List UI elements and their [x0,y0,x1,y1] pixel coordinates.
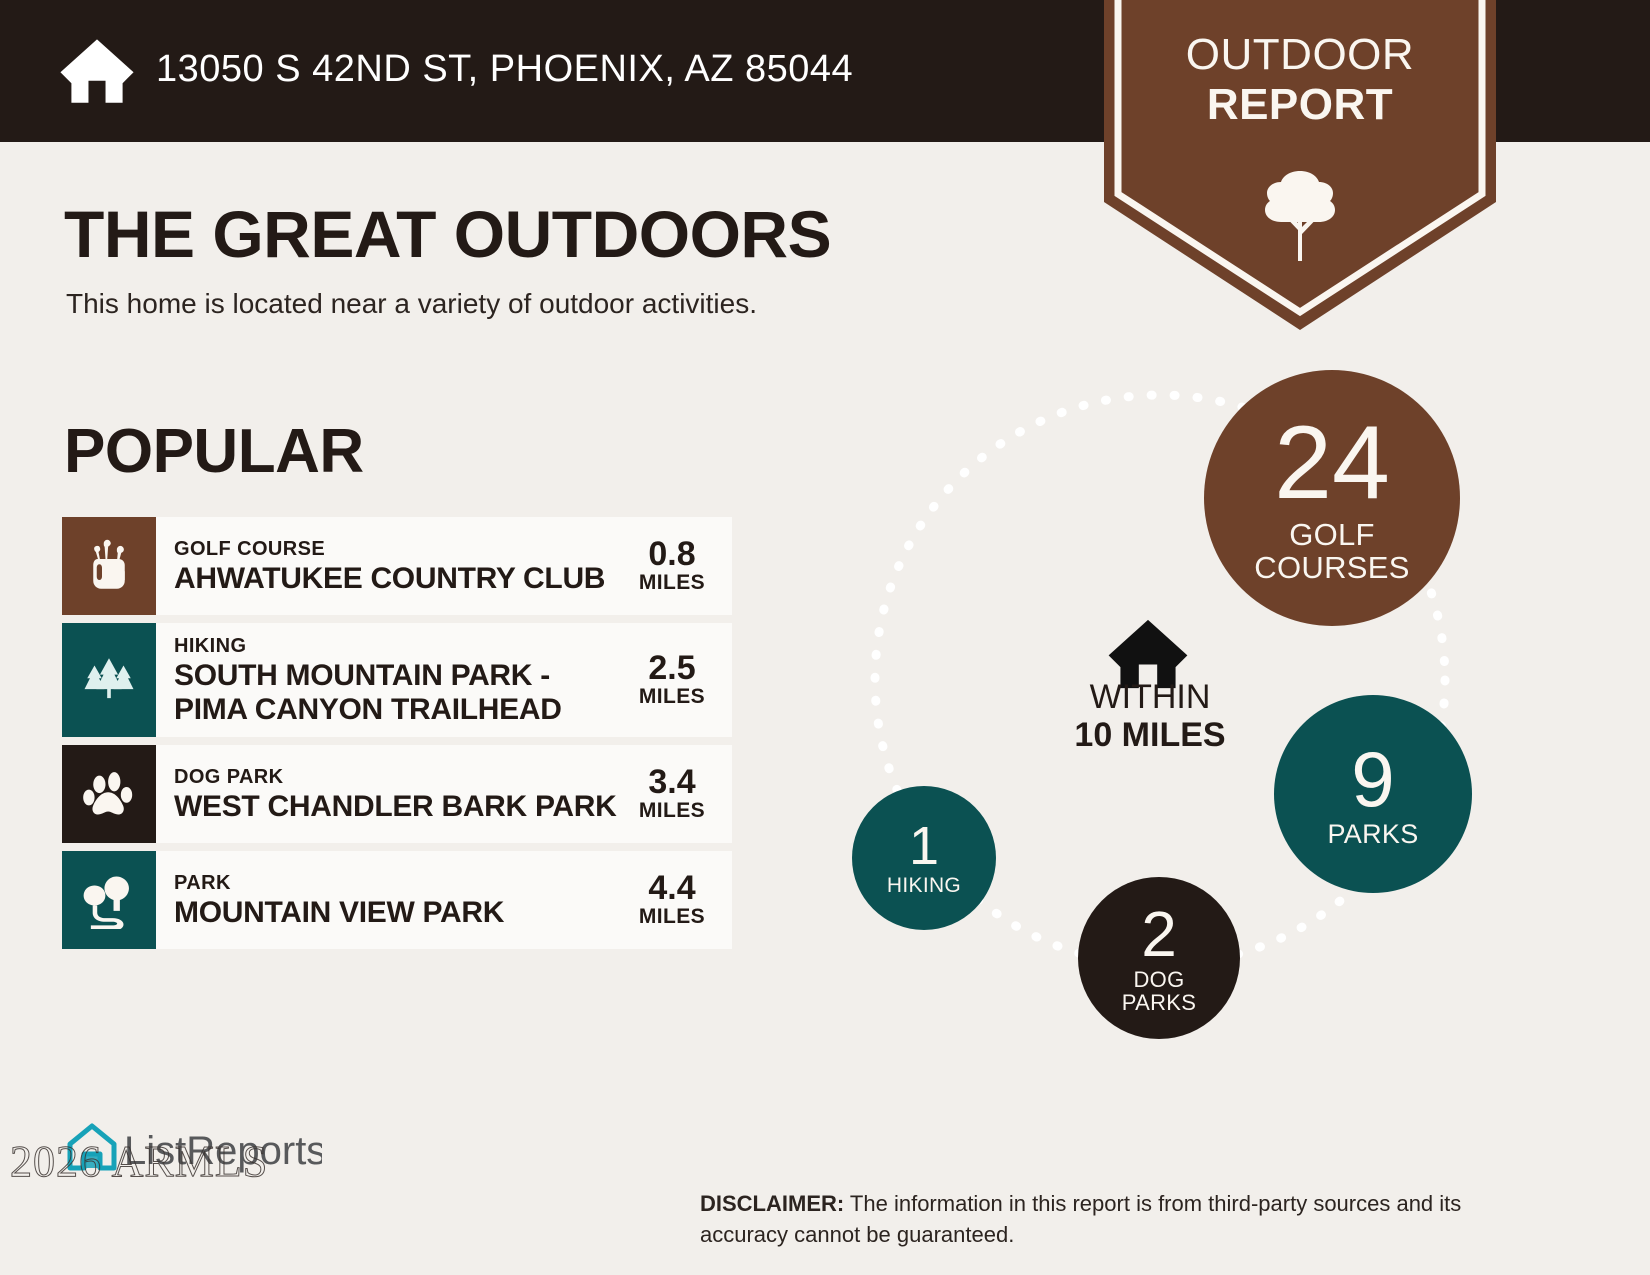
distance-unit: MILES [626,685,718,709]
list-item-distance: 2.5 MILES [618,651,718,709]
stat-value: 1 [909,819,939,873]
popular-heading: POPULAR [64,416,364,487]
list-item-category: DOG PARK [174,764,617,790]
paw-print-icon [81,766,137,822]
stat-label-line1: DOG [1122,968,1196,991]
popular-list: GOLF COURSE AHWATUKEE COUNTRY CLUB 0.8 M… [62,517,732,957]
list-item-category: PARK [174,870,504,896]
outdoor-report-badge: OUTDOOR REPORT [1104,0,1496,330]
stat-label-line1: GOLF [1254,519,1409,552]
list-item-icon-tile [62,623,156,737]
property-address: 13050 S 42ND ST, PHOENIX, AZ 85044 [156,48,853,91]
distance-unit: MILES [626,905,718,929]
distance-value: 4.4 [626,871,718,905]
stat-bubble-golf-courses[interactable]: 24 GOLF COURSES [1204,370,1460,626]
list-item-body: GOLF COURSE AHWATUKEE COUNTRY CLUB 0.8 M… [156,517,732,615]
stat-label: GOLF COURSES [1254,519,1409,584]
disclaimer: DISCLAIMER: The information in this repo… [700,1188,1530,1250]
badge-title-line1: OUTDOOR [1104,30,1496,80]
badge-title: OUTDOOR REPORT [1104,30,1496,130]
list-item-icon-tile [62,745,156,843]
stat-value: 2 [1141,902,1177,966]
list-item-distance: 0.8 MILES [618,537,718,595]
list-item-distance: 3.4 MILES [618,765,718,823]
stat-label-line2: COURSES [1254,552,1409,585]
within-10-miles-label: WITHIN 10 MILES [1020,678,1280,754]
within-label-line1: WITHIN [1020,678,1280,716]
page-title: THE GREAT OUTDOORS [64,196,831,272]
distance-value: 3.4 [626,765,718,799]
distance-value: 2.5 [626,651,718,685]
list-item-icon-tile [62,517,156,615]
list-item-body: DOG PARK WEST CHANDLER BARK PARK 3.4 MIL… [156,745,732,843]
armls-watermark: 2026 ARMLS [10,1136,268,1187]
list-item-icon-tile [62,851,156,949]
list-item[interactable]: DOG PARK WEST CHANDLER BARK PARK 3.4 MIL… [62,745,732,843]
list-item-body: PARK MOUNTAIN VIEW PARK 4.4 MILES [156,851,732,949]
stat-bubble-hiking[interactable]: 1 HIKING [852,786,996,930]
list-item-name: SOUTH MOUNTAIN PARK - PIMA CANYON TRAILH… [174,659,618,727]
stat-label: PARKS [1327,820,1418,848]
stat-label: HIKING [887,875,961,897]
list-item-name: WEST CHANDLER BARK PARK [174,790,617,824]
badge-title-line2: REPORT [1104,80,1496,130]
within-10-miles-diagram: WITHIN 10 MILES 24 GOLF COURSES 9 PARKS … [830,350,1530,1050]
stat-value: 9 [1351,740,1394,818]
page-subtitle: This home is located near a variety of o… [66,288,757,320]
disclaimer-label: DISCLAIMER: [700,1191,844,1216]
stat-label: DOG PARKS [1122,968,1196,1014]
list-item-category: GOLF COURSE [174,536,605,562]
list-item[interactable]: GOLF COURSE AHWATUKEE COUNTRY CLUB 0.8 M… [62,517,732,615]
list-item-category: HIKING [174,633,618,659]
within-label-line2: 10 MILES [1020,716,1280,754]
list-item[interactable]: PARK MOUNTAIN VIEW PARK 4.4 MILES [62,851,732,949]
stat-label-line2: PARKS [1122,991,1196,1014]
list-item-distance: 4.4 MILES [618,871,718,929]
list-item-name: MOUNTAIN VIEW PARK [174,896,504,930]
distance-value: 0.8 [626,537,718,571]
stat-bubble-parks[interactable]: 9 PARKS [1274,695,1472,893]
list-item[interactable]: HIKING SOUTH MOUNTAIN PARK - PIMA CANYON… [62,623,732,737]
home-icon [58,32,136,110]
golf-bag-icon [81,538,137,594]
stat-bubble-dog-parks[interactable]: 2 DOG PARKS [1078,877,1240,1039]
park-trees-path-icon [80,871,138,929]
distance-unit: MILES [626,571,718,595]
stat-value: 24 [1274,411,1390,515]
list-item-name: AHWATUKEE COUNTRY CLUB [174,562,605,596]
pine-trees-icon [80,651,138,709]
list-item-body: HIKING SOUTH MOUNTAIN PARK - PIMA CANYON… [156,623,732,737]
distance-unit: MILES [626,799,718,823]
